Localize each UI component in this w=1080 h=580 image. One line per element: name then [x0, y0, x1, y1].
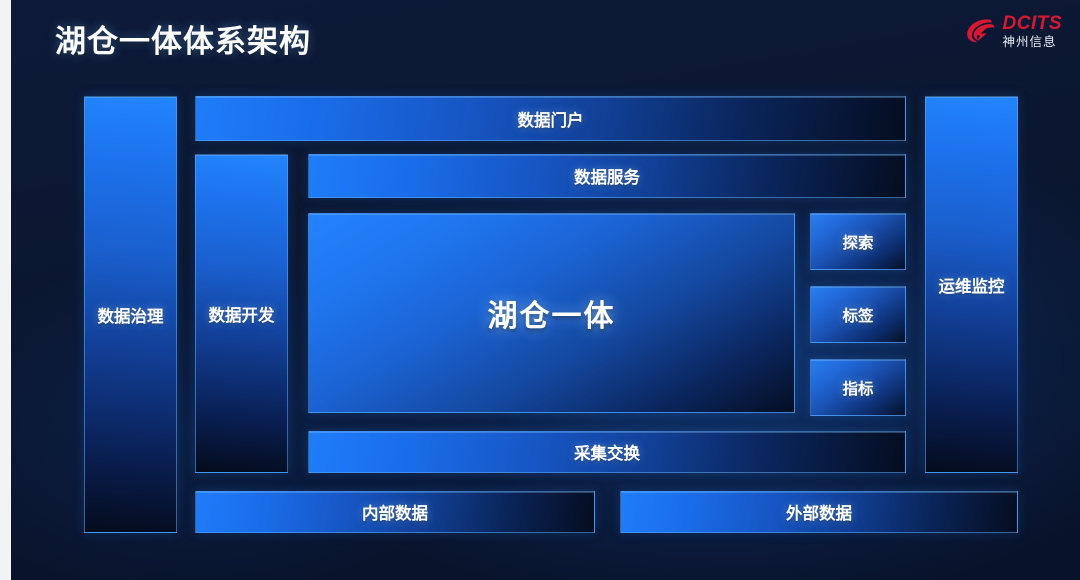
chip-metric-label: 指标	[842, 377, 873, 399]
bar-internal-data-label: 内部数据	[362, 500, 428, 524]
logo-chinese: 神州信息	[1003, 36, 1063, 49]
chip-tag[interactable]: 标签	[810, 286, 906, 343]
bar-external-data-label: 外部数据	[786, 500, 852, 524]
column-ops-monitoring-label: 运维监控	[939, 273, 1005, 297]
column-data-development-label: 数据开发	[209, 302, 275, 326]
logo-english: DCITS	[1003, 14, 1063, 33]
left-edge-gutter	[0, 0, 11, 580]
bar-data-portal-label: 数据门户	[518, 107, 584, 131]
bar-external-data[interactable]: 外部数据	[620, 491, 1018, 533]
column-data-development[interactable]: 数据开发	[195, 154, 288, 473]
page-title: 湖仓一体体系架构	[55, 16, 311, 61]
bar-collect-exchange-label: 采集交换	[574, 440, 640, 464]
core-lakehouse-label: 湖仓一体	[488, 291, 616, 335]
column-data-governance[interactable]: 数据治理	[84, 96, 177, 533]
bar-data-portal[interactable]: 数据门户	[195, 96, 906, 141]
column-data-governance-label: 数据治理	[98, 303, 164, 327]
chip-explore-label: 探索	[842, 231, 873, 253]
bar-collect-exchange[interactable]: 采集交换	[308, 431, 906, 473]
chip-tag-label: 标签	[842, 304, 873, 326]
slide-canvas: 湖仓一体体系架构 DCITS 神州信息 数据治理 数据开发 运维监控 数据门户 …	[0, 0, 1080, 580]
dcits-swirl-logo-icon	[963, 14, 997, 48]
brand-logo: DCITS 神州信息	[963, 14, 1063, 49]
bar-data-service[interactable]: 数据服务	[308, 154, 906, 198]
core-lakehouse-block[interactable]: 湖仓一体	[308, 213, 795, 413]
bar-data-service-label: 数据服务	[574, 164, 640, 188]
bar-internal-data[interactable]: 内部数据	[195, 491, 595, 533]
chip-explore[interactable]: 探索	[810, 213, 906, 270]
logo-wordmark: DCITS 神州信息	[1003, 14, 1063, 49]
column-ops-monitoring[interactable]: 运维监控	[925, 96, 1018, 473]
chip-metric[interactable]: 指标	[810, 359, 906, 416]
